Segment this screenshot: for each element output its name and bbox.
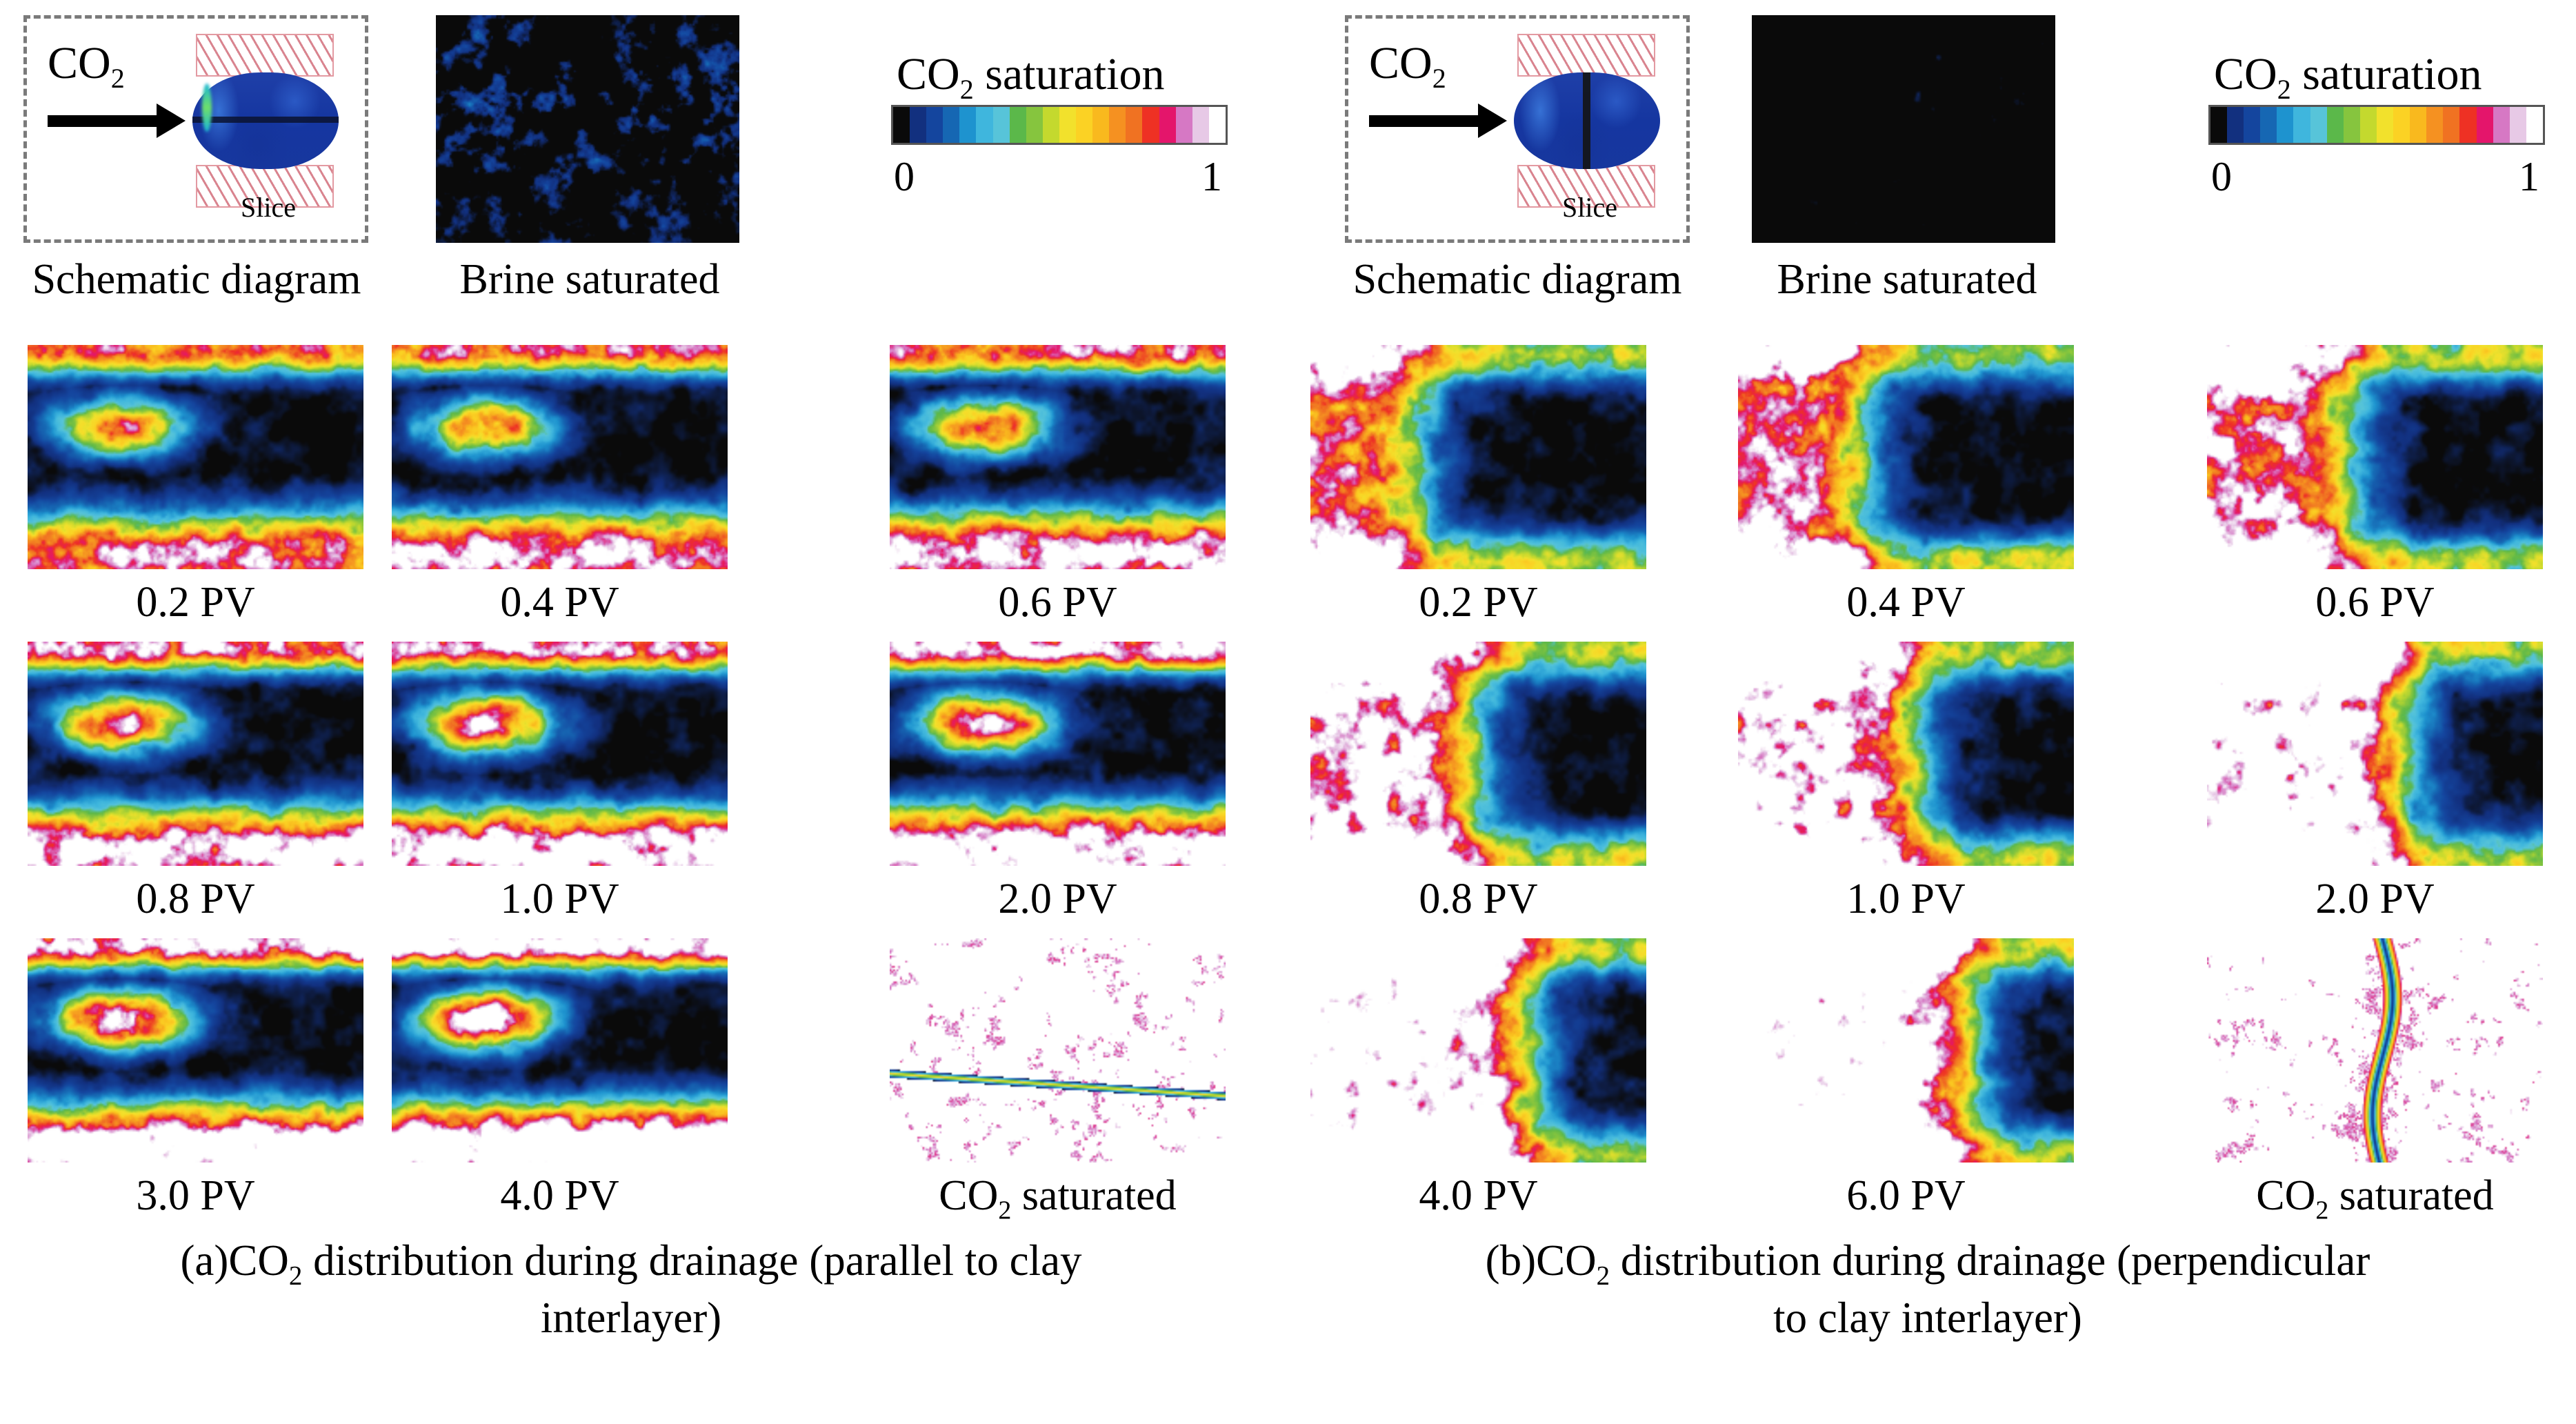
schematic-co2-label-a: CO2	[48, 41, 125, 92]
colorbar-a: CO2 saturation 0 1	[890, 21, 1235, 241]
saturation-tile-label-a-7: 4.0 PV	[392, 1171, 728, 1220]
brine-saturated-label-a: Brine saturated	[414, 255, 766, 304]
saturation-tile-b-5	[2207, 642, 2543, 866]
panel-caption-a: (a)CO2 distribution during drainage (par…	[14, 1235, 1248, 1343]
brine-saturated-tile-b	[1752, 15, 2055, 243]
saturation-tile-b-8	[2207, 938, 2543, 1163]
saturation-tile-label-b-0: 0.2 PV	[1310, 578, 1646, 627]
colorbar-title-a: CO2 saturation	[897, 48, 1164, 106]
saturation-tile-a-8	[890, 938, 1226, 1163]
saturation-tile-label-b-6: 4.0 PV	[1310, 1171, 1646, 1220]
saturation-tile-a-6	[28, 938, 363, 1163]
saturation-tile-a-5	[890, 642, 1226, 866]
colorbar-b: CO2 saturation 0 1	[2207, 21, 2552, 241]
saturation-tile-a-4	[392, 642, 728, 866]
saturation-tile-label-a-4: 1.0 PV	[392, 875, 728, 924]
colorbar-max-b: 1	[2519, 153, 2539, 201]
colorbar-min-a: 0	[894, 153, 915, 201]
saturation-tile-label-a-2: 0.6 PV	[890, 578, 1226, 627]
colorbar-gradient-b	[2208, 105, 2545, 145]
saturation-tile-b-2	[2207, 345, 2543, 569]
schematic-caption-b: Schematic diagram	[1321, 255, 1714, 304]
saturation-tile-label-a-5: 2.0 PV	[890, 875, 1226, 924]
saturation-tile-label-a-8: CO2 saturated	[890, 1171, 1226, 1225]
schematic-caption-a: Schematic diagram	[0, 255, 393, 304]
saturation-tile-b-4	[1738, 642, 2074, 866]
schematic-diagram-a: CO2 Slice	[23, 15, 368, 243]
core-cylinder-b	[1514, 72, 1660, 169]
clay-hatch-top-a	[196, 34, 334, 77]
colorbar-max-a: 1	[1201, 153, 1222, 201]
brine-saturated-label-b: Brine saturated	[1731, 255, 2083, 304]
saturation-tile-a-3	[28, 642, 363, 866]
slice-label-a: Slice	[199, 191, 337, 224]
saturation-tile-label-b-7: 6.0 PV	[1738, 1171, 2074, 1220]
saturation-tile-a-1	[392, 345, 728, 569]
saturation-tile-b-3	[1310, 642, 1646, 866]
brine-saturated-tile-a	[436, 15, 739, 243]
colorbar-gradient-a	[891, 105, 1228, 145]
saturation-tile-label-a-6: 3.0 PV	[28, 1171, 363, 1220]
saturation-tile-label-a-0: 0.2 PV	[28, 578, 363, 627]
saturation-tile-b-7	[1738, 938, 2074, 1163]
saturation-tile-b-1	[1738, 345, 2074, 569]
saturation-tile-label-b-4: 1.0 PV	[1738, 875, 2074, 924]
saturation-tile-a-2	[890, 345, 1226, 569]
saturation-tile-label-a-3: 0.8 PV	[28, 875, 363, 924]
slice-label-b: Slice	[1521, 191, 1659, 224]
panel-caption-b: (b)CO2 distribution during drainage (per…	[1310, 1235, 2545, 1343]
saturation-tile-label-b-1: 0.4 PV	[1738, 578, 2074, 627]
saturation-tile-label-a-1: 0.4 PV	[392, 578, 728, 627]
saturation-tile-label-b-2: 0.6 PV	[2207, 578, 2543, 627]
colorbar-title-b: CO2 saturation	[2214, 48, 2482, 106]
saturation-tile-label-b-3: 0.8 PV	[1310, 875, 1646, 924]
saturation-tile-label-b-8: CO2 saturated	[2207, 1171, 2543, 1225]
saturation-tile-b-6	[1310, 938, 1646, 1163]
saturation-tile-a-0	[28, 345, 363, 569]
clay-hatch-top-b	[1517, 34, 1655, 77]
schematic-diagram-b: CO2 Slice	[1345, 15, 1690, 243]
core-cylinder-a	[192, 72, 339, 169]
schematic-co2-label-b: CO2	[1369, 41, 1446, 92]
colorbar-min-b: 0	[2211, 153, 2232, 201]
saturation-tile-a-7	[392, 938, 728, 1163]
saturation-tile-label-b-5: 2.0 PV	[2207, 875, 2543, 924]
figure-canvas: CO2 Slice Schematic diagram Brine satura…	[0, 0, 2576, 1424]
saturation-tile-b-0	[1310, 345, 1646, 569]
